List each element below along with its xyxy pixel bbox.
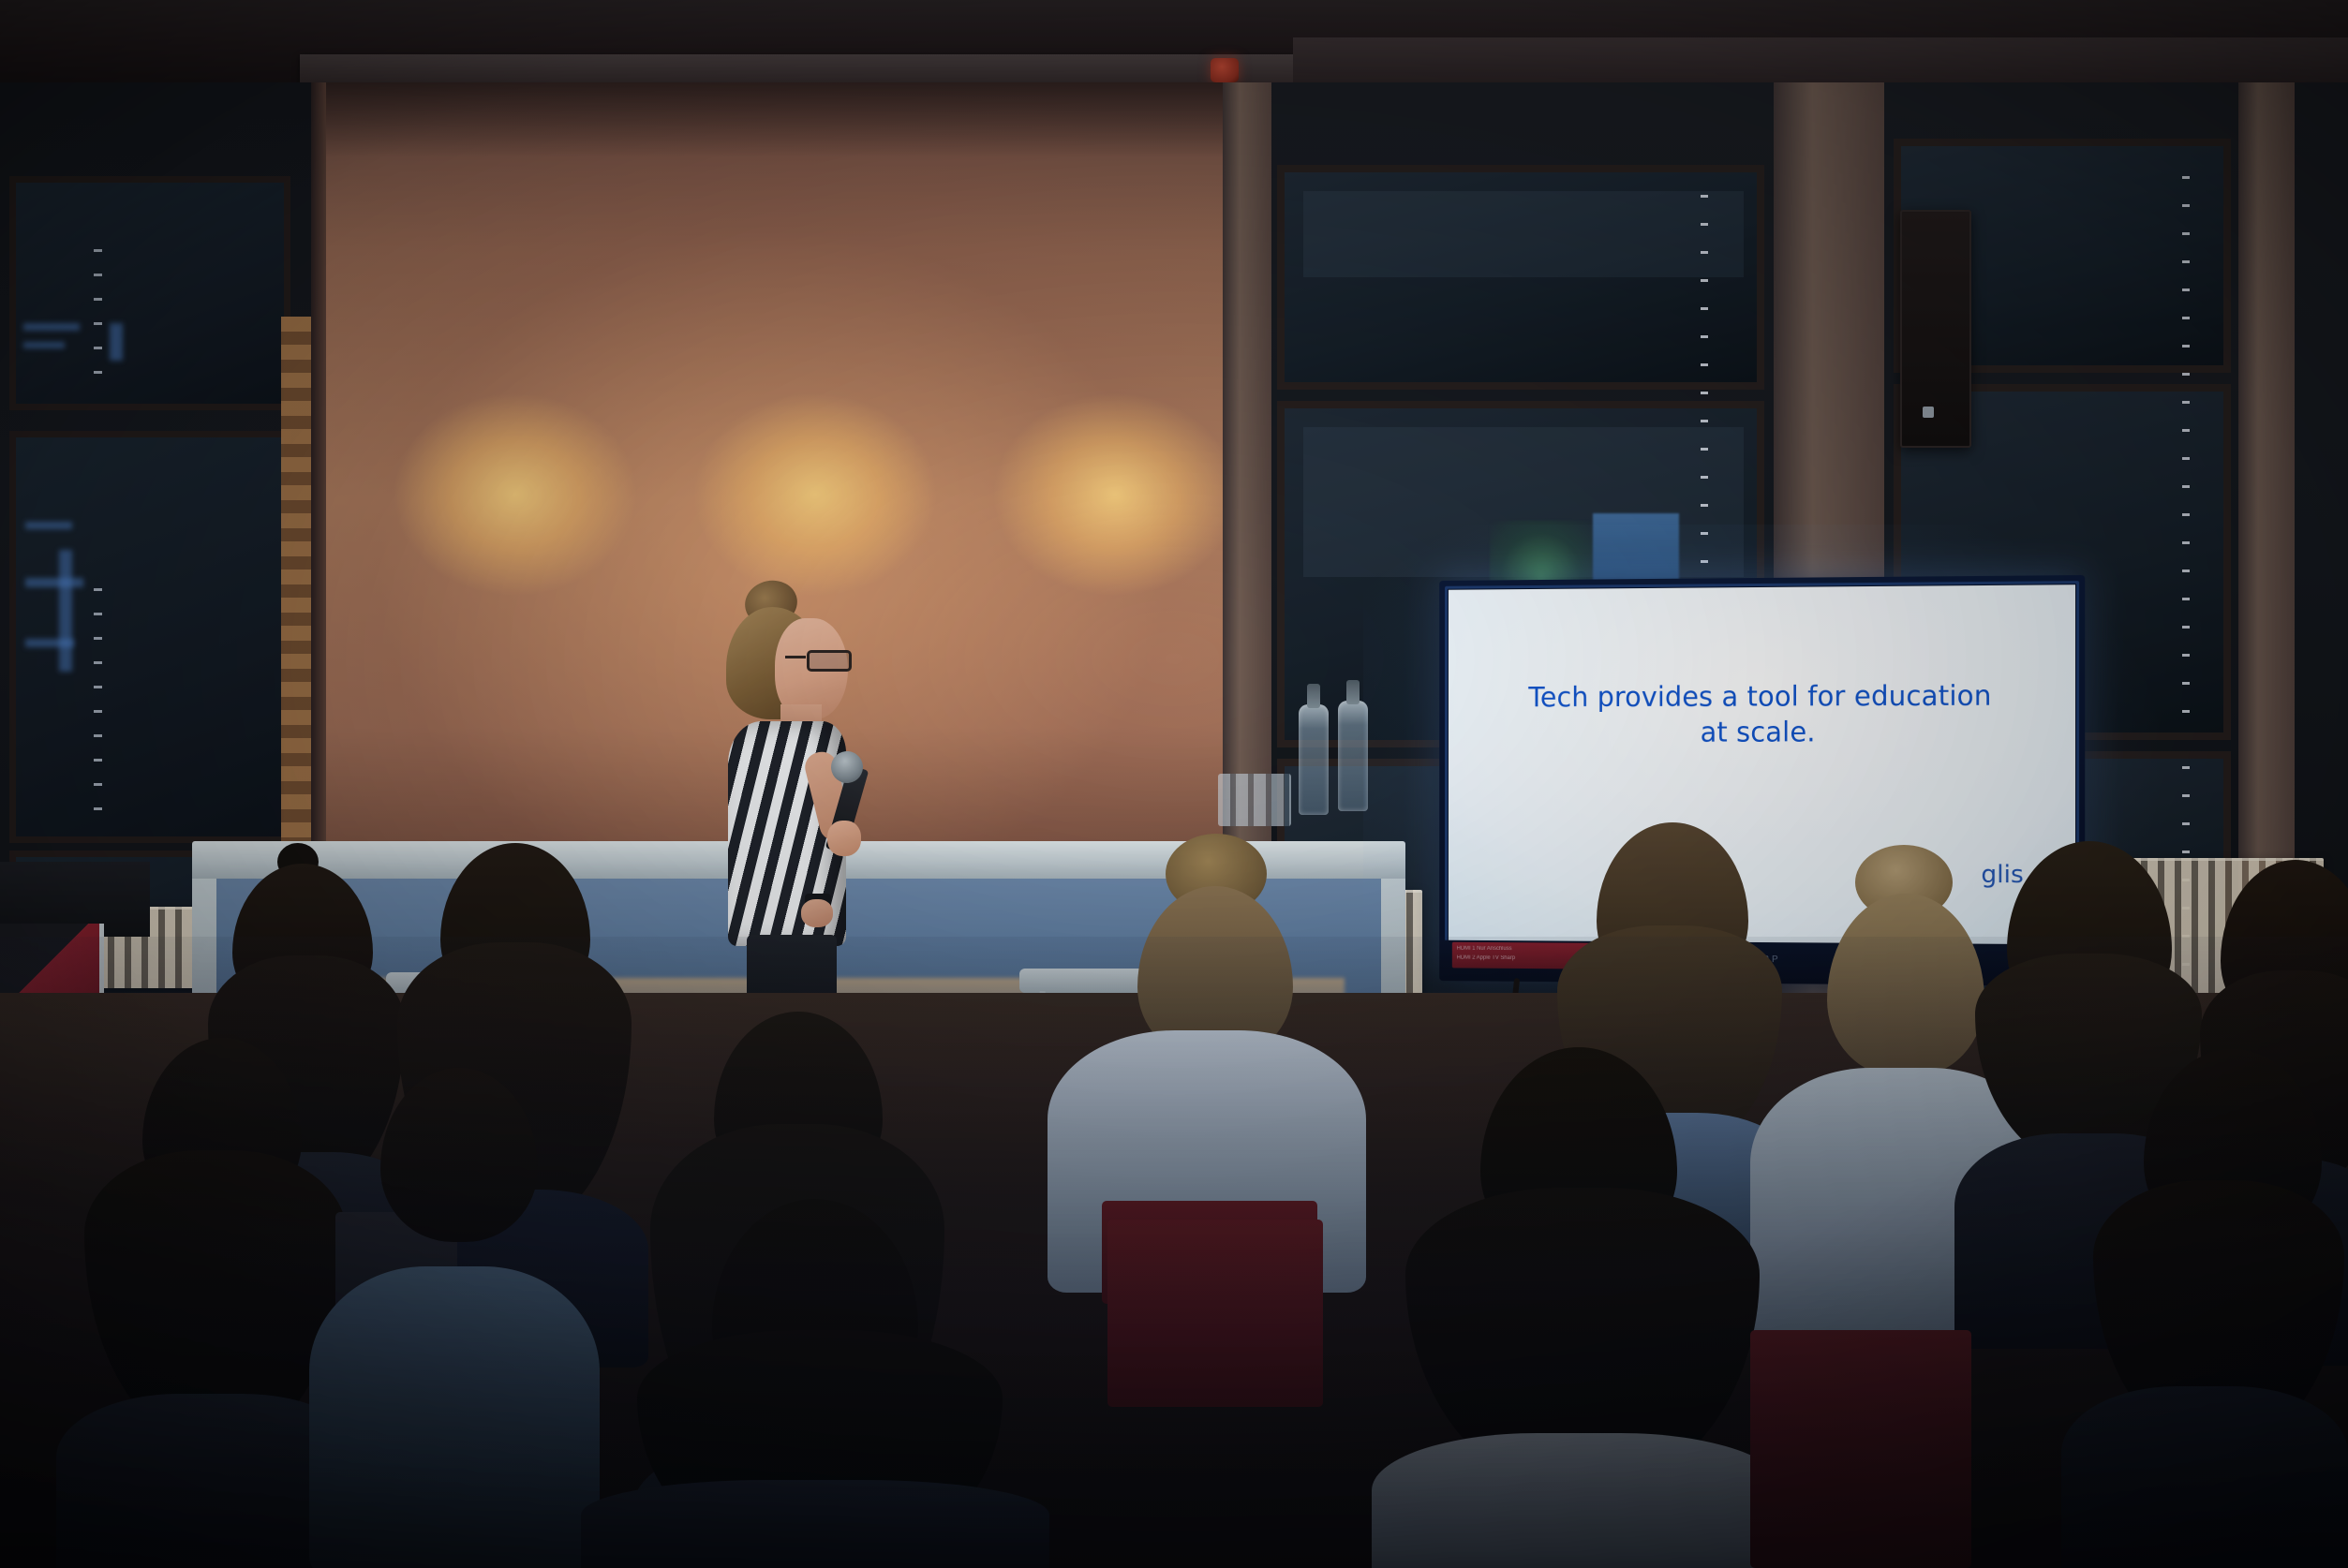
slide-line-2: at scale. xyxy=(1499,715,2021,751)
presenter-speaking xyxy=(707,581,895,1021)
feature-wall-shadow xyxy=(323,82,1223,157)
slide-body-text: Tech provides a tool for education at sc… xyxy=(1449,678,2075,750)
water-bottle xyxy=(1299,704,1329,815)
chair xyxy=(1750,1330,1971,1568)
window-right-upper xyxy=(1277,165,1764,390)
ceiling-beam xyxy=(300,54,1293,82)
window-left-lower xyxy=(9,431,290,843)
presenter-hand-mic xyxy=(827,821,861,856)
wall-speaker xyxy=(1900,210,1971,448)
audience-member-front xyxy=(300,1068,609,1568)
audience-member-front xyxy=(2061,1049,2348,1568)
window-shutter-left-lower xyxy=(94,588,102,822)
audience-member-front xyxy=(1368,1047,1790,1568)
window-shutter-left-upper xyxy=(94,249,102,380)
window-left-upper xyxy=(9,176,290,410)
speaker-led-icon xyxy=(1923,407,1934,418)
drinking-glasses xyxy=(1218,774,1291,826)
torso xyxy=(581,1480,1049,1568)
window-shutter-right-3 xyxy=(2182,176,2190,738)
torso xyxy=(309,1266,600,1568)
torso xyxy=(2061,1386,2348,1568)
ceiling-beam-right xyxy=(1293,37,2348,82)
feature-wall-edge xyxy=(311,82,326,841)
presenter-hand-clicker xyxy=(801,899,833,927)
water-bottle xyxy=(1338,701,1368,811)
head xyxy=(380,1068,538,1242)
fire-alarm-icon xyxy=(1211,58,1239,82)
audience-member-front xyxy=(581,1199,1049,1568)
chair xyxy=(1107,1220,1323,1407)
presentation-room-scene: Tech provides a tool for education at sc… xyxy=(0,0,2348,1568)
torso xyxy=(1372,1433,1786,1568)
audience-member xyxy=(1048,834,1366,1283)
slide-line-1: Tech provides a tool for education xyxy=(1499,679,2021,717)
eyeglasses-icon xyxy=(807,650,852,672)
